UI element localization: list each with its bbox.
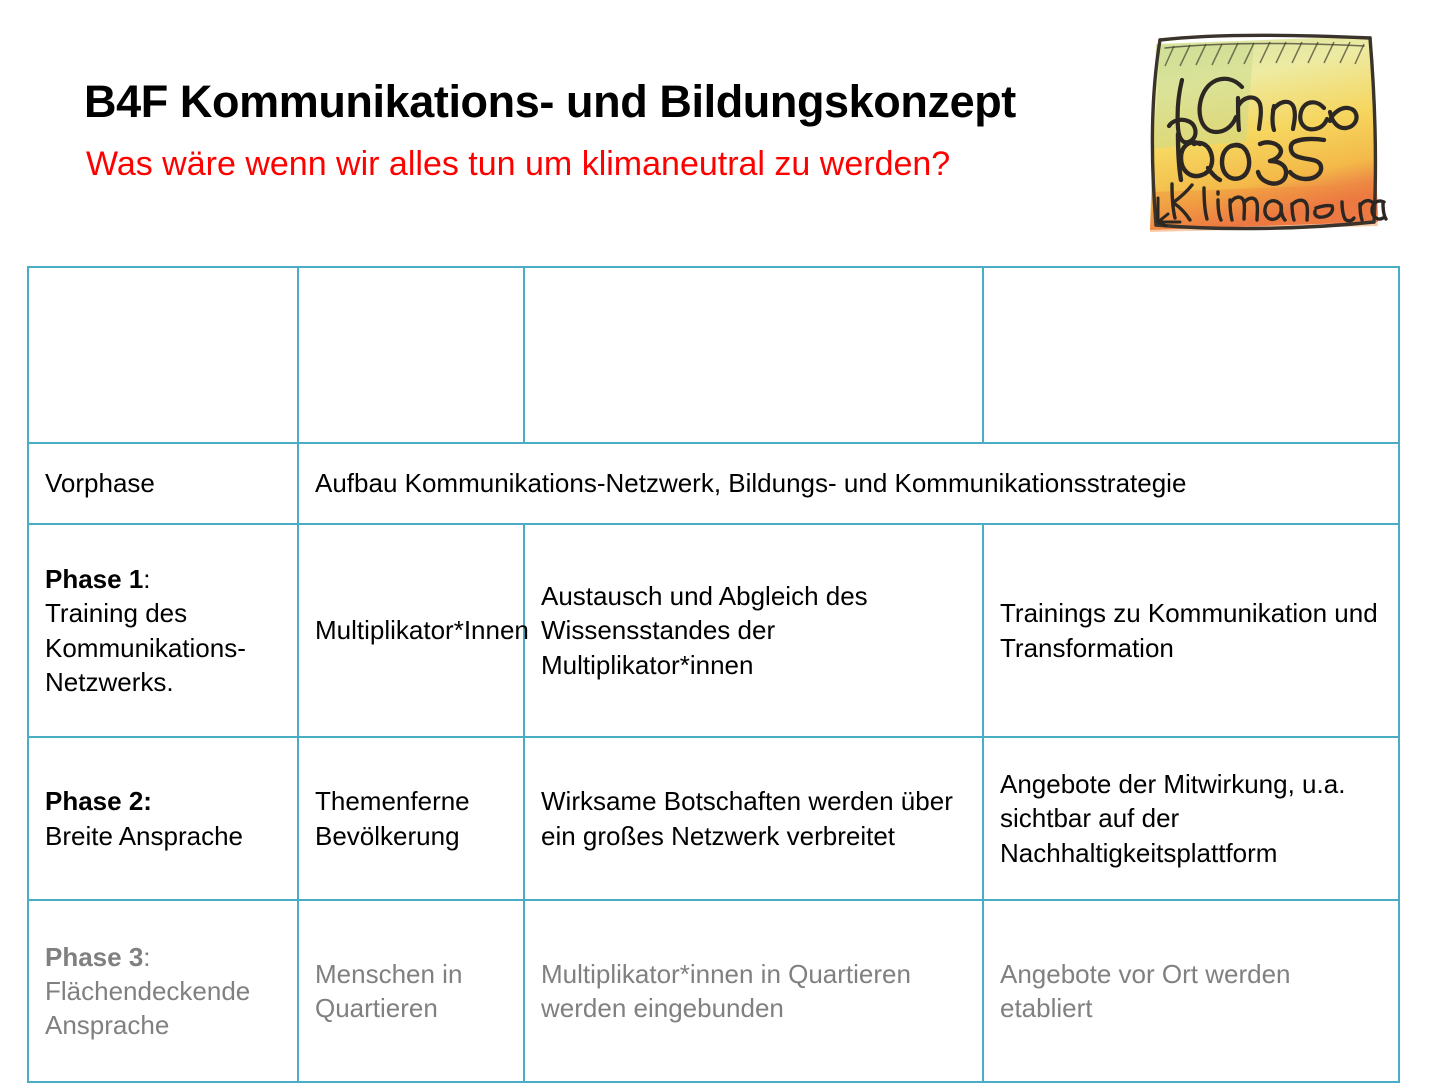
slide-header: B4F Kommunikations- und Bildungskonzept … xyxy=(0,0,1430,250)
table-row-vorphase: Vorphase Aufbau Kommunikations-Netzwerk,… xyxy=(28,443,1399,524)
chance-2035-klimaneutral-logo xyxy=(1134,22,1390,248)
phase-3-bold-label: Phase 3 xyxy=(45,942,143,972)
phase-2-description: Breite Ansprache xyxy=(45,821,243,851)
table-row-phase-2: Phase 2: Breite Ansprache Themenferne Be… xyxy=(28,737,1399,900)
cell-phase-label-phase-2: Phase 2: Breite Ansprache xyxy=(28,737,298,900)
cell-zielgruppe-phase-2: Themenferne Bevölkerung xyxy=(298,737,524,900)
cell-phase-label-phase-3: Phase 3: Flächendeckende Ansprache xyxy=(28,900,298,1082)
cell-ziel2-phase-2: Angebote der Mitwirkung, u.a. sichtbar a… xyxy=(983,737,1399,900)
cell-phase-label-phase-1: Phase 1: Training des Kommunikations-Net… xyxy=(28,524,298,737)
cell-zielgruppe-phase-1: Multiplikator*Innen xyxy=(298,524,524,737)
cell-ziel2-phase-3: Angebote vor Ort werden etabliert xyxy=(983,900,1399,1082)
table-row-phase-3: Phase 3: Flächendeckende Ansprache Mensc… xyxy=(28,900,1399,1082)
column-header-phasen: Phasen xyxy=(28,267,298,443)
table-row-phase-1: Phase 1: Training des Kommunikations-Net… xyxy=(28,524,1399,737)
cell-ziel2-phase-1: Trainings zu Kommunikation und Transform… xyxy=(983,524,1399,737)
table-header-row: Phasen Zielgruppe Ziel 1: Jede*r möchte … xyxy=(28,267,1399,443)
column-header-ziel-2: Ziel 2: Jede*r möchte mitmachen xyxy=(983,267,1399,443)
column-header-zielgruppe: Zielgruppe xyxy=(298,267,524,443)
column-header-ziel-1: Ziel 1: Jede*r möchte Klimaneutralität e… xyxy=(524,267,983,443)
cell-ziel1-phase-3: Multiplikator*innen in Quartieren werden… xyxy=(524,900,983,1082)
cell-ziel1-phase-1: Austausch und Abgleich des Wissensstande… xyxy=(524,524,983,737)
cell-zielgruppe-phase-3: Menschen in Quartieren xyxy=(298,900,524,1082)
concept-table: Phasen Zielgruppe Ziel 1: Jede*r möchte … xyxy=(27,266,1400,1083)
cell-ziel1-phase-2: Wirksame Botschaften werden über ein gro… xyxy=(524,737,983,900)
phase-2-bold-label: Phase 2: xyxy=(45,786,152,816)
page-title: B4F Kommunikations- und Bildungskonzept xyxy=(84,78,1016,125)
page-subtitle: Was wäre wenn wir alles tun um klimaneut… xyxy=(86,147,950,183)
cell-phase-label-vorphase: Vorphase xyxy=(28,443,298,524)
cell-vorphase-span: Aufbau Kommunikations-Netzwerk, Bildungs… xyxy=(298,443,1399,524)
phase-1-bold-label: Phase 1 xyxy=(45,564,143,594)
